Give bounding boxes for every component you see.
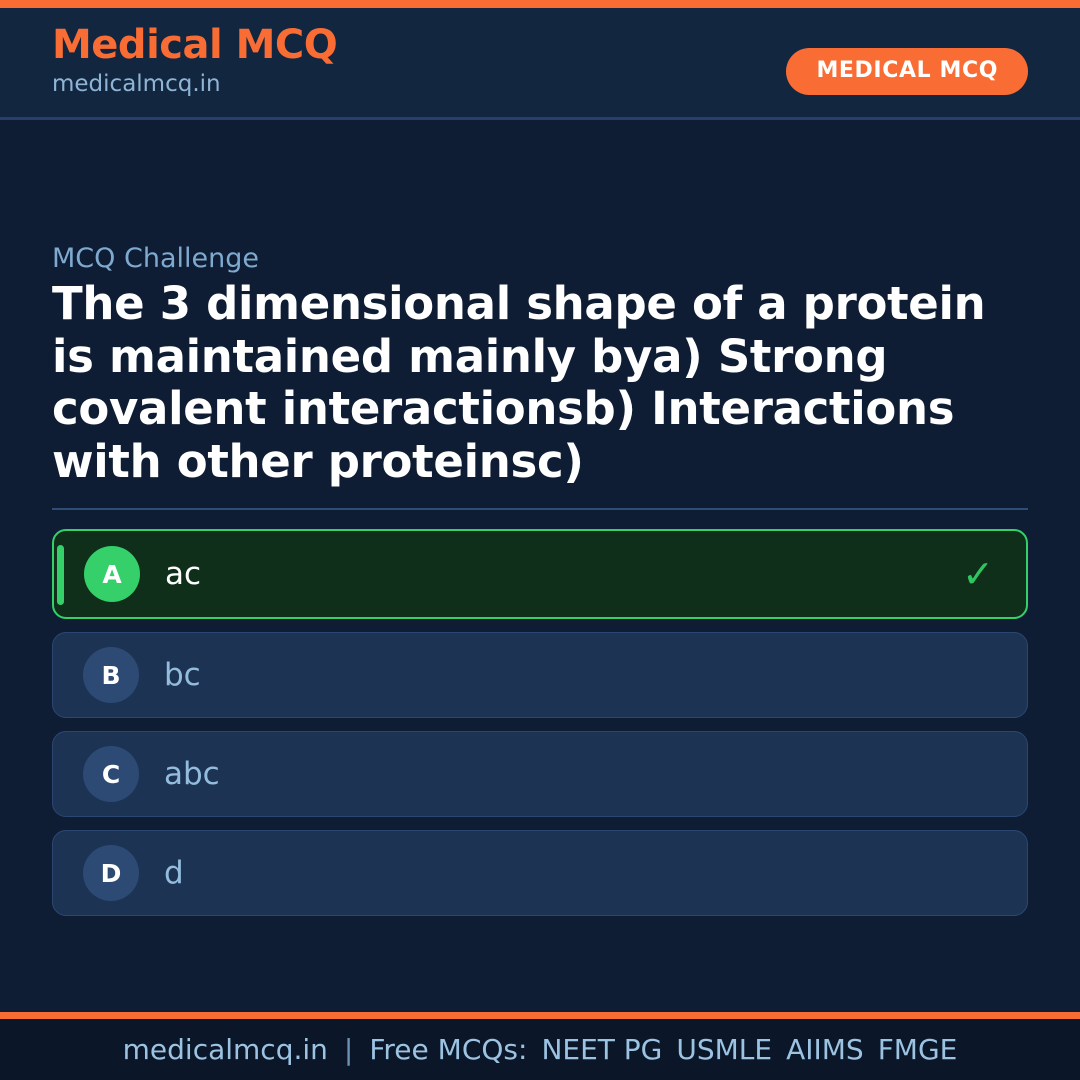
option-letter-badge-d: D bbox=[83, 845, 139, 901]
footer-exam-neet-pg: NEET PG bbox=[541, 1033, 662, 1066]
option-letter-badge-a: A bbox=[84, 546, 140, 602]
correct-accent-bar bbox=[57, 545, 64, 605]
footer-exam-fmge: FMGE bbox=[878, 1033, 958, 1066]
option-text-b: bc bbox=[164, 660, 201, 691]
question-divider bbox=[52, 508, 1028, 510]
option-letter-badge-c: C bbox=[83, 746, 139, 802]
option-row-a[interactable]: A ac ✓ bbox=[52, 529, 1028, 619]
bottom-accent-bar bbox=[0, 1012, 1080, 1019]
brand-subtitle: medicalmcq.in bbox=[52, 70, 337, 100]
option-row-d[interactable]: D d bbox=[52, 830, 1028, 916]
footer-exam-usmle: USMLE bbox=[676, 1033, 772, 1066]
footer-exam-aiims: AIIMS bbox=[786, 1033, 864, 1066]
page-header: Medical MCQ medicalmcq.in MEDICAL MCQ bbox=[0, 8, 1080, 120]
option-letter-badge-b: B bbox=[83, 647, 139, 703]
footer-label: Free MCQs: bbox=[369, 1033, 527, 1066]
options-list: A ac ✓ B bc C abc D d bbox=[52, 529, 1028, 929]
option-text-a: ac bbox=[165, 559, 201, 590]
footer-site: medicalmcq.in bbox=[123, 1033, 328, 1066]
option-text-c: abc bbox=[164, 759, 220, 790]
mcq-challenge-kicker: MCQ Challenge bbox=[52, 245, 259, 272]
brand-block: Medical MCQ medicalmcq.in bbox=[52, 22, 337, 100]
main-content: MCQ Challenge The 3 dimensional shape of… bbox=[0, 123, 1080, 1012]
option-text-d: d bbox=[164, 858, 184, 889]
page-footer: medicalmcq.in|Free MCQs:NEET PGUSMLEAIIM… bbox=[0, 1019, 1080, 1080]
option-row-b[interactable]: B bc bbox=[52, 632, 1028, 718]
footer-line: medicalmcq.in|Free MCQs:NEET PGUSMLEAIIM… bbox=[123, 1036, 958, 1064]
brand-title: Medical MCQ bbox=[52, 22, 337, 68]
top-accent-bar bbox=[0, 0, 1080, 8]
question-text: The 3 dimensional shape of a protein is … bbox=[52, 278, 1032, 489]
option-row-c[interactable]: C abc bbox=[52, 731, 1028, 817]
header-badge: MEDICAL MCQ bbox=[786, 48, 1028, 95]
check-icon: ✓ bbox=[962, 555, 994, 593]
footer-separator: | bbox=[344, 1033, 353, 1066]
